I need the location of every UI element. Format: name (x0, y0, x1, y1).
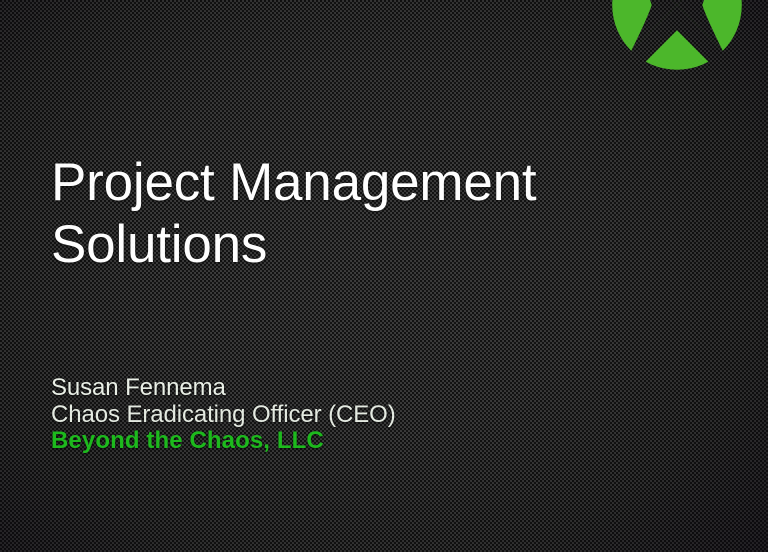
title-line-2: Solutions (51, 214, 691, 276)
beyond-the-chaos-logo-icon (598, 0, 756, 84)
presenter-byline: Susan Fennema Chaos Eradicating Officer … (51, 375, 691, 455)
presentation-slide: Project Management Solutions Susan Fenne… (0, 0, 768, 552)
title-line-1: Project Management (51, 152, 691, 214)
presenter-company: Beyond the Chaos, LLC (51, 428, 691, 455)
slide-title: Project Management Solutions (51, 152, 691, 276)
presenter-name: Susan Fennema (51, 375, 691, 402)
presenter-role: Chaos Eradicating Officer (CEO) (51, 402, 691, 429)
